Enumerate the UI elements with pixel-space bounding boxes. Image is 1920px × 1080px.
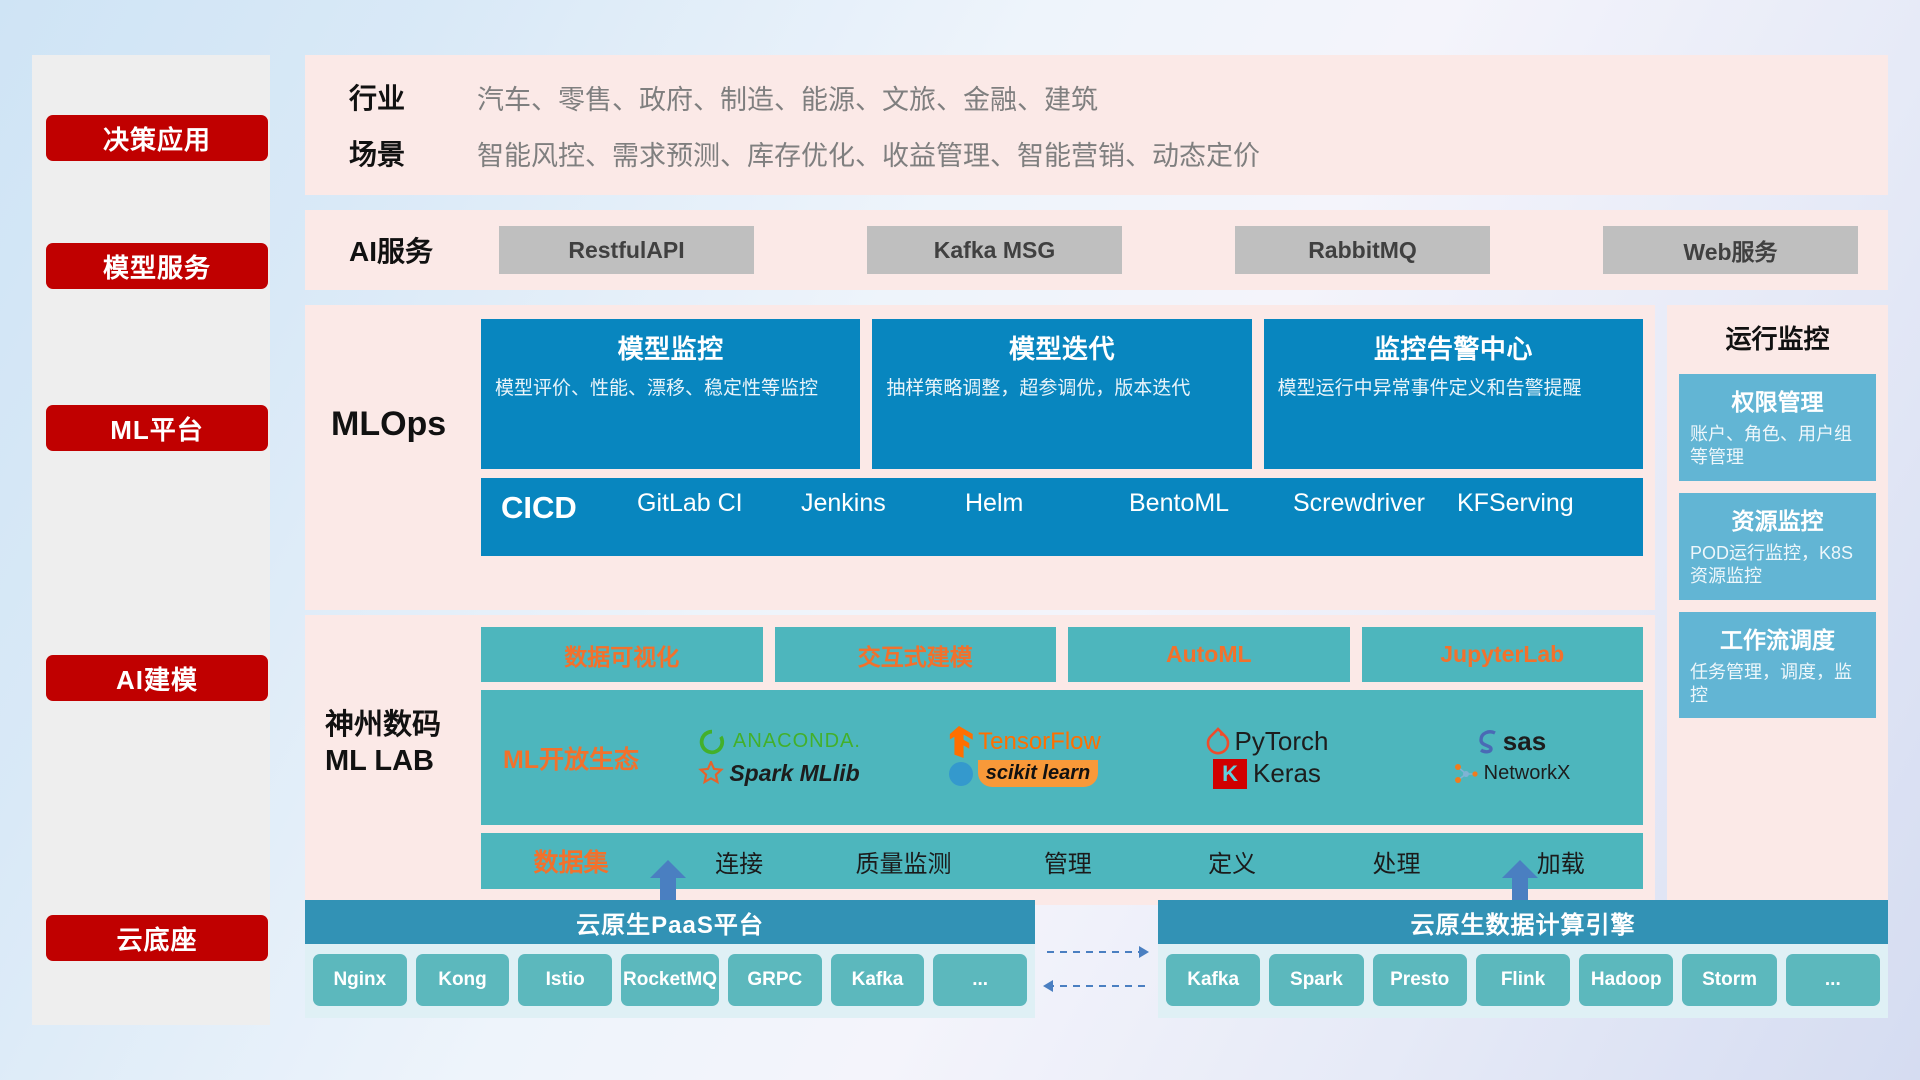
ai-service-box-web[interactable]: Web服务: [1603, 226, 1858, 274]
rail-label: 决策应用: [103, 120, 211, 157]
ml-open-ecosystem-label: ML开放生态: [485, 740, 657, 776]
ai-service-title: AI服务: [327, 230, 499, 270]
dataset-label: 数据集: [485, 843, 657, 879]
pytorch-text: PyTorch: [1235, 726, 1329, 757]
rail-item-ml-platform[interactable]: ML平台: [46, 405, 268, 451]
card-title: 模型监控: [495, 329, 846, 366]
engine-chip-hadoop[interactable]: Hadoop: [1579, 954, 1673, 1006]
tensorflow-text: TensorFlow: [978, 728, 1101, 756]
tool-jupyterlab[interactable]: JupyterLab: [1362, 627, 1644, 682]
networkx-logo: NetworkX: [1452, 761, 1571, 787]
cloud-compute-engine-title: 云原生数据计算引擎: [1158, 900, 1888, 944]
industry-label: 行业: [327, 77, 477, 117]
cicd-item-jenkins[interactable]: Jenkins: [801, 490, 965, 516]
mlops-card-alert-center[interactable]: 监控告警中心 模型运行中异常事件定义和告警提醒: [1264, 319, 1643, 469]
rail-item-cloud-base[interactable]: 云底座: [46, 915, 268, 961]
rail-label: ML平台: [110, 410, 204, 447]
bidirectional-dashed-link-icon: [1043, 938, 1149, 1000]
paas-chip-nginx[interactable]: Nginx: [313, 954, 407, 1006]
dataset-item-process[interactable]: 处理: [1314, 844, 1478, 879]
section-ai-modeling: 神州数码 ML LAB 数据可视化 交互式建模 AutoML JupyterLa…: [305, 615, 1655, 905]
ai-service-box-restfulapi[interactable]: RestfulAPI: [499, 226, 754, 274]
card-desc: 抽样策略调整，超参调优，版本迭代: [886, 376, 1237, 402]
paas-chip-kafka[interactable]: Kafka: [831, 954, 925, 1006]
rail-item-ai-modeling[interactable]: AI建模: [46, 655, 268, 701]
rail-item-decision-apps[interactable]: 决策应用: [46, 115, 268, 161]
networkx-text: NetworkX: [1484, 762, 1571, 785]
engine-chip-kafka[interactable]: Kafka: [1166, 954, 1260, 1006]
cicd-item-screwdriver[interactable]: Screwdriver: [1293, 490, 1457, 516]
cloud-paas-title: 云原生PaaS平台: [305, 900, 1035, 944]
tool-interactive-modeling[interactable]: 交互式建模: [775, 627, 1057, 682]
sas-text: sas: [1503, 726, 1546, 757]
ml-lab-title: 神州数码 ML LAB: [317, 627, 481, 780]
anaconda-text: ANACONDA.: [733, 730, 861, 753]
engine-chip-presto[interactable]: Presto: [1373, 954, 1467, 1006]
engine-chip-flink[interactable]: Flink: [1476, 954, 1570, 1006]
paas-chip-kong[interactable]: Kong: [416, 954, 510, 1006]
runtime-monitoring-title: 运行监控: [1725, 319, 1829, 356]
pytorch-logo: PyTorch: [1206, 726, 1329, 757]
engine-chip-spark[interactable]: Spark: [1269, 954, 1363, 1006]
rail-label: 云底座: [116, 920, 197, 957]
scenario-values: 智能风控、需求预测、库存优化、收益管理、智能营销、动态定价: [477, 134, 1260, 173]
card-title: 监控告警中心: [1278, 329, 1629, 366]
card-desc: 模型运行中异常事件定义和告警提醒: [1278, 376, 1629, 402]
card-desc: POD运行监控，K8S资源监控: [1690, 542, 1865, 589]
cicd-item-kfserving[interactable]: KFServing: [1457, 490, 1621, 516]
mlops-title: MLOps: [317, 319, 481, 444]
cicd-item-gitlab-ci[interactable]: GitLab CI: [637, 490, 801, 516]
tool-automl[interactable]: AutoML: [1068, 627, 1350, 682]
spark-text: Spark MLlib: [729, 760, 859, 787]
rail-item-model-service[interactable]: 模型服务: [46, 243, 268, 289]
monitor-card-resource[interactable]: 资源监控 POD运行监控，K8S资源监控: [1679, 493, 1876, 600]
card-desc: 账户、角色、用户组等管理: [1690, 423, 1865, 470]
tool-data-visualization[interactable]: 数据可视化: [481, 627, 763, 682]
rail-label: AI建模: [116, 660, 198, 697]
section-runtime-monitoring: 运行监控 权限管理 账户、角色、用户组等管理 资源监控 POD运行监控，K8S资…: [1667, 305, 1888, 905]
section-ai-service: AI服务 RestfulAPI Kafka MSG RabbitMQ Web服务: [305, 210, 1888, 290]
card-title: 工作流调度: [1690, 621, 1865, 655]
scikit-text: scikit learn: [978, 760, 1099, 787]
ai-service-box-rabbitmq[interactable]: RabbitMQ: [1235, 226, 1490, 274]
section-mlops: MLOps 模型监控 模型评价、性能、漂移、稳定性等监控 模型迭代 抽样策略调整…: [305, 305, 1655, 610]
section-decision-applications: 行业 汽车、零售、政府、制造、能源、文旅、金融、建筑 场景 智能风控、需求预测、…: [305, 55, 1888, 195]
ml-open-ecosystem-row: ML开放生态 ANACONDA. TensorFlow: [481, 690, 1643, 825]
industry-row: 行业 汽车、零售、政府、制造、能源、文旅、金融、建筑: [327, 77, 1866, 117]
anaconda-logo: ANACONDA.: [697, 727, 861, 757]
industry-values: 汽车、零售、政府、制造、能源、文旅、金融、建筑: [477, 78, 1098, 117]
monitor-card-workflow[interactable]: 工作流调度 任务管理，调度，监控: [1679, 612, 1876, 719]
engine-chip-storm[interactable]: Storm: [1682, 954, 1776, 1006]
scikit-learn-logo: scikit learn: [948, 760, 1099, 787]
card-title: 权限管理: [1690, 383, 1865, 417]
card-desc: 任务管理，调度，监控: [1690, 661, 1865, 708]
engine-chip-more[interactable]: ...: [1786, 954, 1880, 1006]
paas-chip-rocketmq[interactable]: RocketMQ: [621, 954, 719, 1006]
tensorflow-logo: TensorFlow: [945, 726, 1101, 758]
scenario-row: 场景 智能风控、需求预测、库存优化、收益管理、智能营销、动态定价: [327, 133, 1866, 173]
card-title: 资源监控: [1690, 502, 1865, 536]
card-title: 模型迭代: [886, 329, 1237, 366]
rail-label: 模型服务: [103, 248, 211, 285]
cicd-title: CICD: [501, 490, 637, 526]
paas-chip-more[interactable]: ...: [933, 954, 1027, 1006]
cloud-paas-group: 云原生PaaS平台 Nginx Kong Istio RocketMQ GRPC…: [305, 900, 1035, 1018]
cloud-compute-engine-group: 云原生数据计算引擎 Kafka Spark Presto Flink Hadoo…: [1158, 900, 1888, 1018]
mlops-card-model-iteration[interactable]: 模型迭代 抽样策略调整，超参调优，版本迭代: [872, 319, 1251, 469]
cicd-item-helm[interactable]: Helm: [965, 490, 1129, 516]
dataset-item-quality[interactable]: 质量监测: [821, 844, 985, 879]
scenario-label: 场景: [327, 133, 477, 173]
spark-mllib-logo: Spark MLlib: [698, 760, 859, 787]
ml-lab-title-line1: 神州数码: [325, 707, 481, 743]
dataset-item-define[interactable]: 定义: [1150, 844, 1314, 879]
sas-logo: sas: [1476, 726, 1546, 757]
up-arrow-icon-right: [1500, 860, 1540, 904]
card-desc: 模型评价、性能、漂移、稳定性等监控: [495, 376, 846, 402]
keras-text: Keras: [1253, 758, 1321, 789]
layer-rail: [32, 55, 270, 1025]
up-arrow-icon-left: [648, 860, 688, 904]
cicd-bar: CICD GitLab CI Jenkins Helm BentoML Scre…: [481, 478, 1643, 556]
monitor-card-permission[interactable]: 权限管理 账户、角色、用户组等管理: [1679, 374, 1876, 481]
dataset-item-manage[interactable]: 管理: [986, 844, 1150, 879]
ai-service-box-kafka-msg[interactable]: Kafka MSG: [867, 226, 1122, 274]
cicd-item-bentoml[interactable]: BentoML: [1129, 490, 1293, 516]
mlops-card-model-monitoring[interactable]: 模型监控 模型评价、性能、漂移、稳定性等监控: [481, 319, 860, 469]
keras-logo: K Keras: [1213, 758, 1321, 789]
paas-chip-istio[interactable]: Istio: [518, 954, 612, 1006]
paas-chip-grpc[interactable]: GRPC: [728, 954, 822, 1006]
ml-lab-title-line2: ML LAB: [325, 743, 481, 779]
